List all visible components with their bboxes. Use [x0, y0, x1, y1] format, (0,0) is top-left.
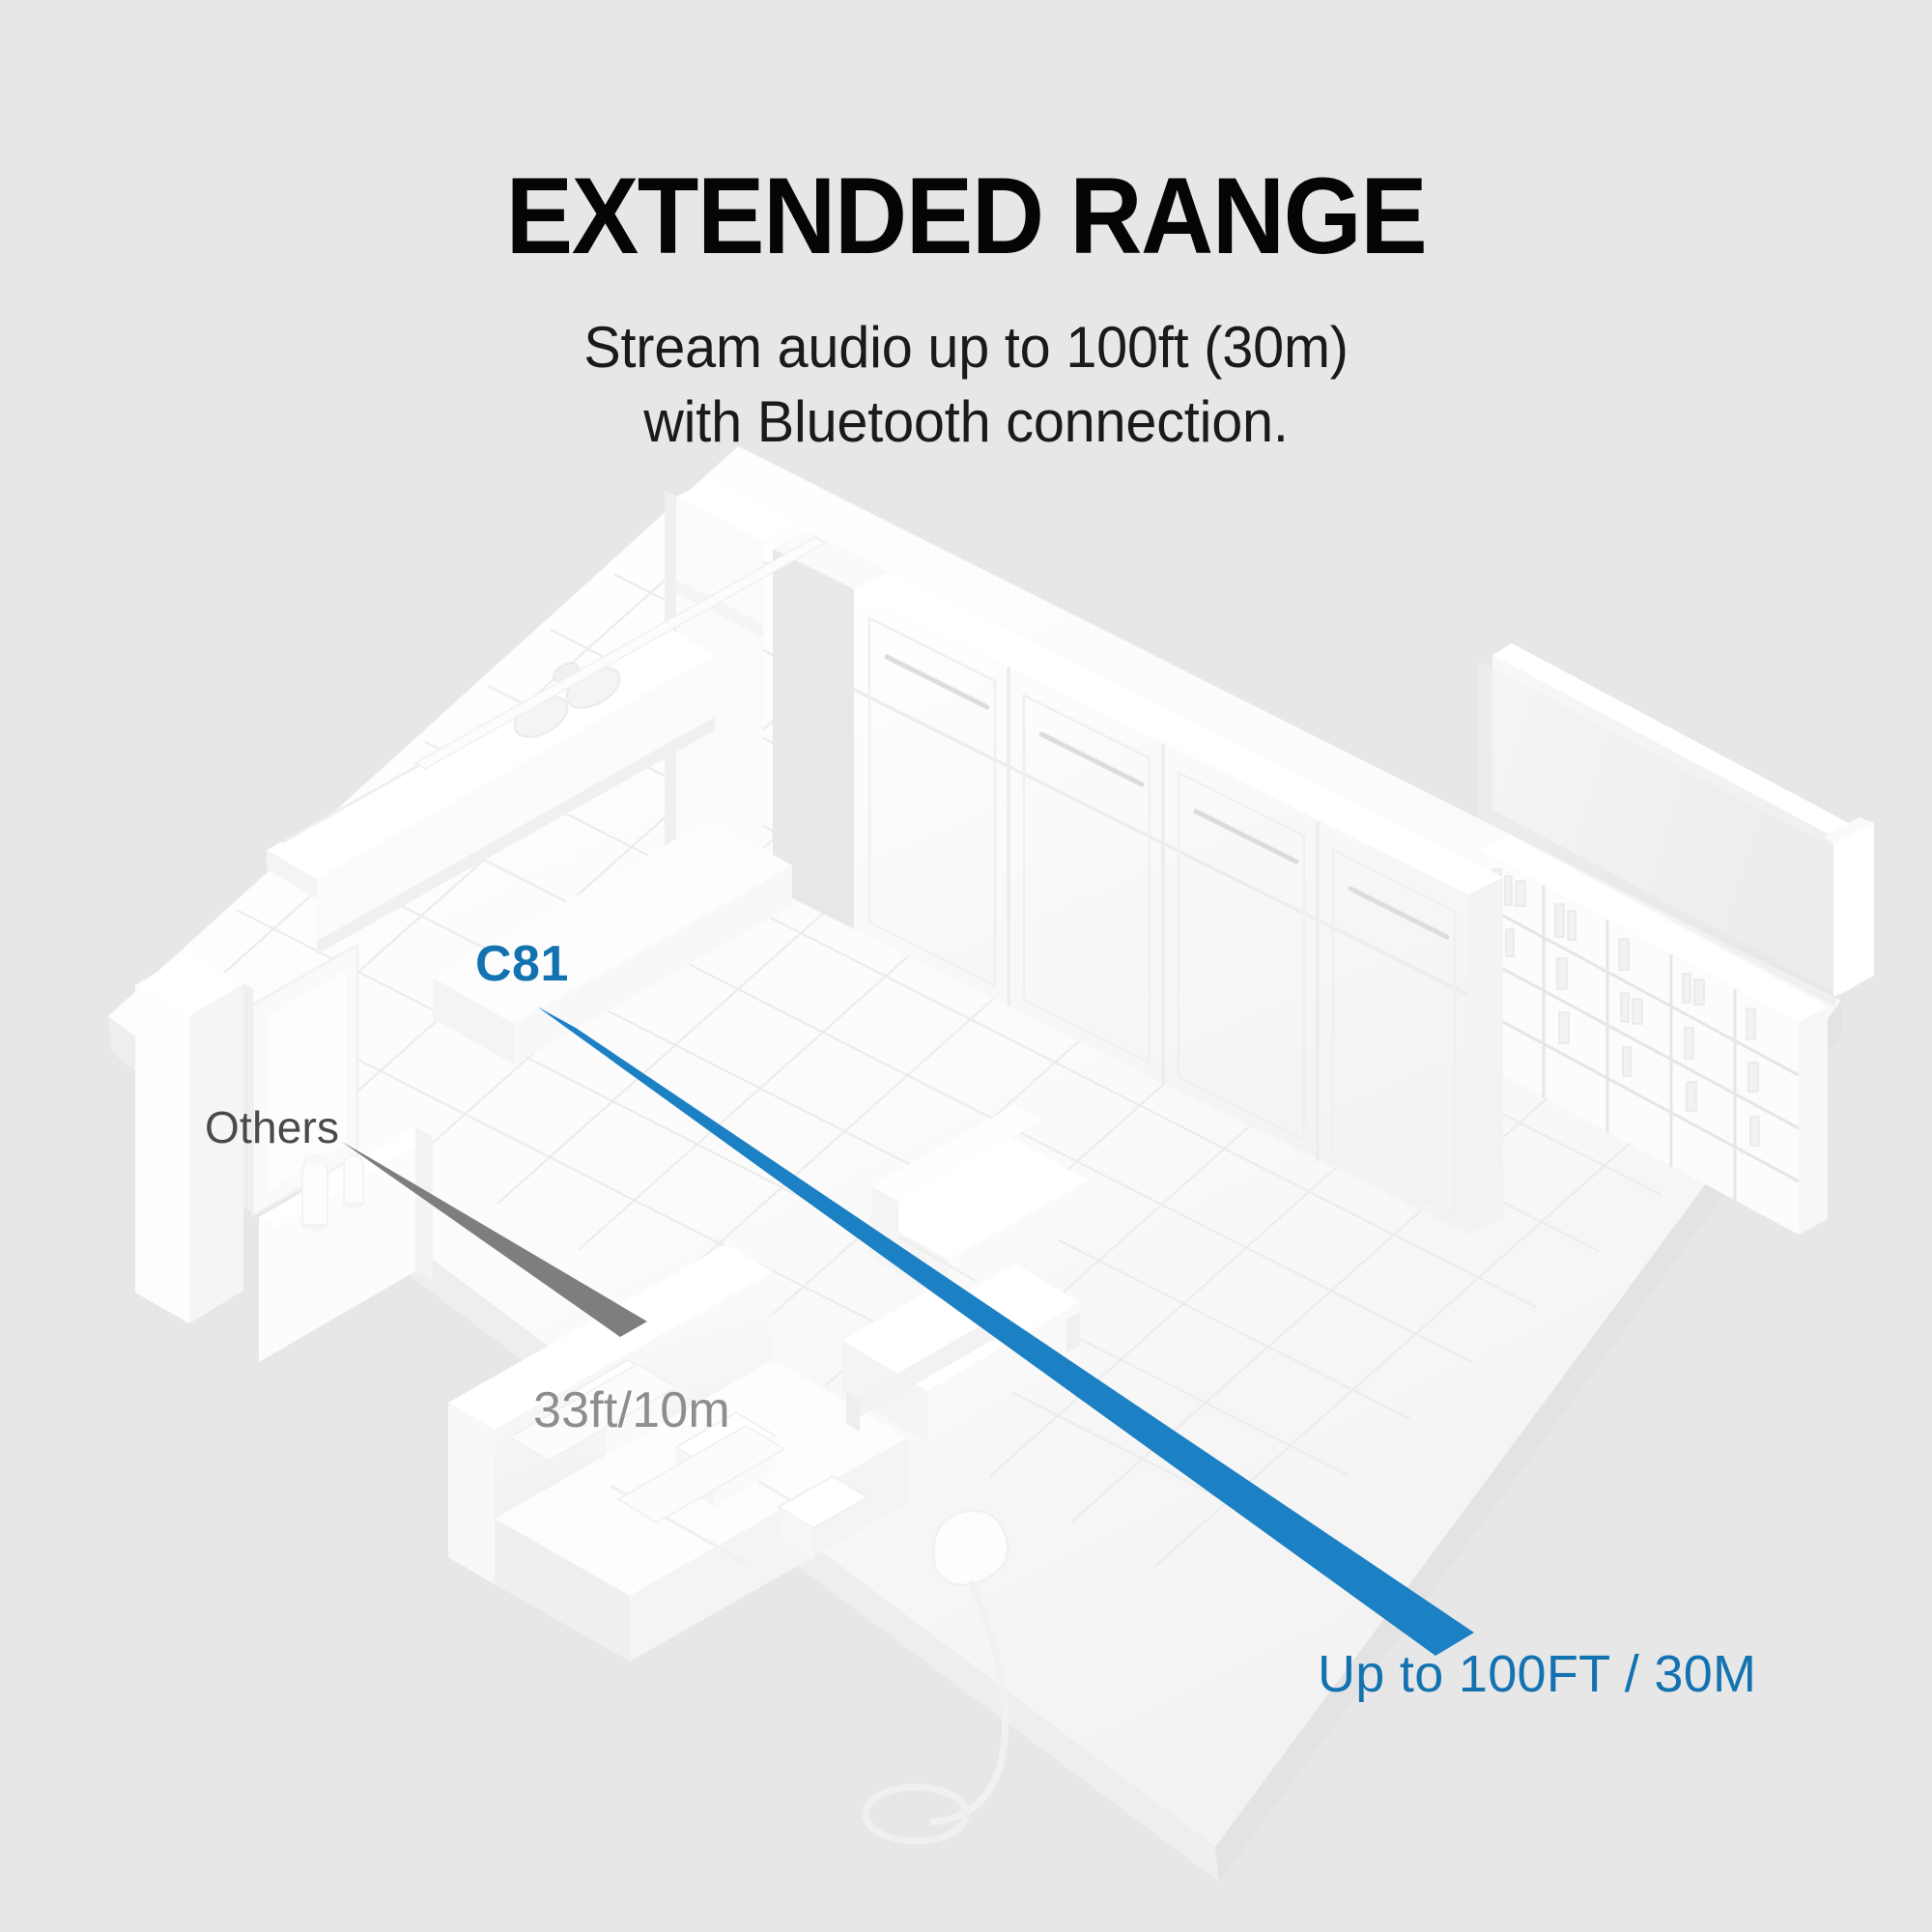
infographic-canvas: EXTENDED RANGE Stream audio up to 100ft …	[0, 0, 1932, 1932]
subtitle-line-1: Stream audio up to 100ft (30m)	[39, 311, 1893, 385]
subtitle: Stream audio up to 100ft (30m) with Blue…	[39, 270, 1893, 460]
others-range-label: Others	[205, 1101, 339, 1153]
page-title: EXTENDED RANGE	[68, 0, 1864, 270]
others-distance-caption: 33ft/10m	[533, 1381, 730, 1439]
header: EXTENDED RANGE Stream audio up to 100ft …	[0, 0, 1932, 460]
subtitle-line-2: with Bluetooth connection.	[39, 385, 1893, 460]
c81-range-label: C81	[475, 935, 569, 993]
c81-distance-caption: Up to 100FT / 30M	[1318, 1644, 1756, 1704]
